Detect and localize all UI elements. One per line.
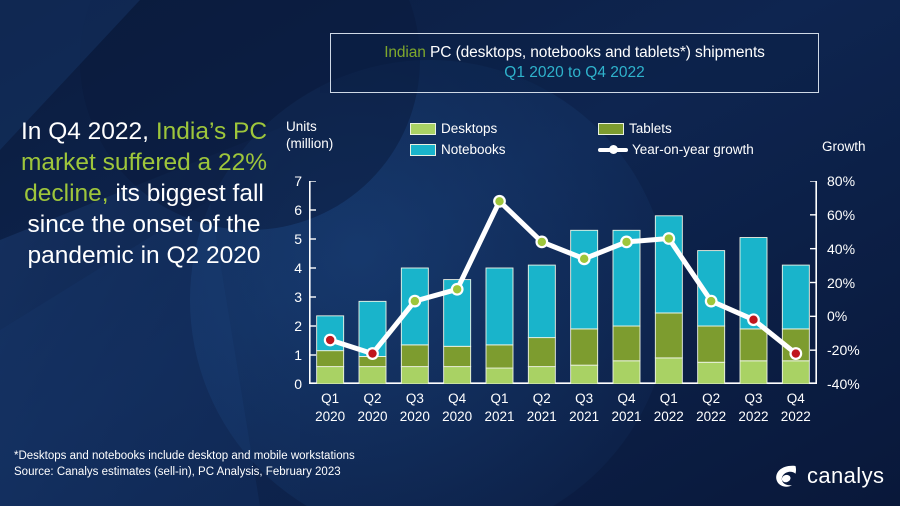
x-axis-labels: Q12020Q22020Q32020Q42020Q12021Q22021Q320… (309, 390, 817, 432)
bar-group (528, 265, 555, 384)
footnotes: *Desktops and notebooks include desktop … (14, 448, 355, 480)
x-axis-quarter: Q4 (605, 390, 647, 408)
bar-segment-notebooks (655, 216, 682, 313)
bar-segment-tablets (571, 329, 598, 365)
x-axis-year: 2021 (563, 408, 605, 426)
legend-item-desktops[interactable]: Desktops (410, 121, 598, 136)
left-axis-title-line2: (million) (286, 135, 333, 152)
legend-row-1: Desktops Tablets (410, 118, 810, 139)
bar-segment-desktops (401, 367, 428, 384)
bar-segment-desktops (444, 367, 471, 384)
left-axis-tick-label: 2 (282, 318, 302, 334)
canalys-logo: canalys (772, 461, 884, 491)
bar-segment-notebooks (571, 230, 598, 329)
x-axis-year: 2020 (436, 408, 478, 426)
x-axis-tick-label: Q42020 (436, 390, 478, 432)
canalys-logo-text: canalys (807, 463, 884, 489)
growth-marker[interactable] (749, 316, 757, 324)
right-axis-tick-label: 0% (827, 308, 871, 324)
x-axis-year: 2022 (648, 408, 690, 426)
growth-marker[interactable] (538, 238, 546, 246)
bar-segment-tablets (698, 326, 725, 362)
bar-group (613, 230, 640, 384)
growth-marker[interactable] (368, 349, 376, 357)
chart-plot-area: 01234567-40%-20%0%20%40%60%80% (309, 181, 817, 384)
bar-segment-tablets (486, 345, 513, 368)
growth-marker[interactable] (453, 285, 461, 293)
bar-group (740, 238, 767, 384)
bar-group (782, 265, 809, 384)
canalys-mark-icon (772, 461, 802, 491)
bar-segment-tablets (613, 326, 640, 361)
x-axis-year: 2022 (732, 408, 774, 426)
bar-segment-tablets (528, 338, 555, 367)
bar-group (486, 268, 513, 384)
x-axis-quarter: Q4 (775, 390, 817, 408)
left-axis-tick-label: 5 (282, 231, 302, 247)
x-axis-tick-label: Q42021 (605, 390, 647, 432)
legend-item-growth[interactable]: Year-on-year growth (598, 142, 754, 157)
x-axis-year: 2020 (309, 408, 351, 426)
legend-swatch-tablets (598, 123, 624, 135)
x-axis-quarter: Q2 (690, 390, 732, 408)
legend-label-desktops: Desktops (441, 121, 497, 136)
x-axis-tick-label: Q12021 (478, 390, 520, 432)
bar-segment-desktops (698, 362, 725, 384)
bar-segment-tablets (655, 313, 682, 358)
growth-marker[interactable] (580, 255, 588, 263)
footnote-line1: *Desktops and notebooks include desktop … (14, 448, 355, 464)
growth-marker[interactable] (411, 297, 419, 305)
bar-segment-desktops (571, 365, 598, 384)
legend-label-tablets: Tablets (629, 121, 672, 136)
right-axis-title: Growth (822, 139, 866, 154)
right-axis-tick-label: 40% (827, 241, 871, 257)
x-axis-tick-label: Q22022 (690, 390, 732, 432)
bar-segment-desktops (317, 367, 344, 384)
x-axis-year: 2020 (394, 408, 436, 426)
left-axis-tick-label: 7 (282, 173, 302, 189)
x-axis-quarter: Q4 (436, 390, 478, 408)
legend-label-notebooks: Notebooks (441, 142, 506, 157)
bar-segment-desktops (655, 358, 682, 384)
footnote-line2: Source: Canalys estimates (sell-in), PC … (14, 464, 355, 480)
right-axis-tick-label: 80% (827, 173, 871, 189)
bar-segment-notebooks (528, 265, 555, 338)
bar-segment-desktops (486, 368, 513, 384)
growth-marker[interactable] (326, 336, 334, 344)
right-axis-tick-label: -40% (827, 376, 871, 392)
chart-title-rest: PC (desktops, notebooks and tablets*) sh… (426, 44, 765, 61)
growth-marker[interactable] (707, 297, 715, 305)
left-axis-tick-label: 1 (282, 347, 302, 363)
legend-label-growth: Year-on-year growth (632, 142, 754, 157)
x-axis-year: 2021 (521, 408, 563, 426)
bar-segment-desktops (740, 361, 767, 384)
right-axis-tick-label: 20% (827, 275, 871, 291)
chart-canvas (309, 181, 817, 384)
right-axis-tick-label: 60% (827, 207, 871, 223)
x-axis-quarter: Q1 (648, 390, 690, 408)
growth-marker[interactable] (665, 234, 673, 242)
left-axis-tick-label: 6 (282, 202, 302, 218)
legend-swatch-notebooks (410, 144, 436, 156)
x-axis-tick-label: Q12022 (648, 390, 690, 432)
x-axis-year: 2022 (775, 408, 817, 426)
legend-row-2: Notebooks Year-on-year growth (410, 139, 810, 160)
x-axis-tick-label: Q22020 (351, 390, 393, 432)
x-axis-year: 2022 (690, 408, 732, 426)
right-axis-tick-label: -20% (827, 342, 871, 358)
bar-segment-notebooks (486, 268, 513, 345)
headline-pre: In Q4 2022, (21, 118, 156, 145)
x-axis-quarter: Q3 (732, 390, 774, 408)
bar-group (401, 268, 428, 384)
x-axis-tick-label: Q12020 (309, 390, 351, 432)
x-axis-quarter: Q2 (521, 390, 563, 408)
headline-text: In Q4 2022, India’s PC market suffered a… (8, 116, 280, 271)
left-axis-tick-label: 0 (282, 376, 302, 392)
left-axis-tick-label: 4 (282, 260, 302, 276)
bar-segment-tablets (444, 346, 471, 366)
chart-title-line1: Indian PC (desktops, notebooks and table… (384, 44, 765, 62)
bar-segment-desktops (782, 361, 809, 384)
bar-segment-tablets (401, 345, 428, 367)
bar-segment-notebooks (782, 265, 809, 329)
growth-marker[interactable] (495, 197, 503, 205)
legend-item-notebooks[interactable]: Notebooks (410, 142, 598, 157)
x-axis-tick-label: Q22021 (521, 390, 563, 432)
chart-legend: Desktops Tablets Notebooks Year-on-year … (410, 118, 810, 160)
bar-group (698, 251, 725, 384)
x-axis-tick-label: Q42022 (775, 390, 817, 432)
bar-segment-desktops (359, 367, 386, 384)
x-axis-quarter: Q3 (394, 390, 436, 408)
left-axis-title-line1: Units (286, 118, 333, 135)
x-axis-tick-label: Q32020 (394, 390, 436, 432)
growth-marker[interactable] (792, 349, 800, 357)
bar-segment-desktops (528, 367, 555, 384)
x-axis-quarter: Q3 (563, 390, 605, 408)
bar-segment-desktops (613, 361, 640, 384)
bar-segment-tablets (317, 351, 344, 367)
x-axis-quarter: Q1 (309, 390, 351, 408)
legend-swatch-desktops (410, 123, 436, 135)
x-axis-year: 2021 (605, 408, 647, 426)
growth-line (330, 201, 796, 353)
x-axis-tick-label: Q32021 (563, 390, 605, 432)
bar-group (317, 316, 344, 384)
chart-title-highlight: Indian (384, 44, 426, 61)
x-axis-year: 2021 (478, 408, 520, 426)
chart-title-box: Indian PC (desktops, notebooks and table… (330, 33, 819, 93)
x-axis-tick-label: Q32022 (732, 390, 774, 432)
left-axis-tick-label: 3 (282, 289, 302, 305)
growth-marker[interactable] (622, 238, 630, 246)
x-axis-quarter: Q2 (351, 390, 393, 408)
legend-item-tablets[interactable]: Tablets (598, 121, 672, 136)
x-axis-year: 2020 (351, 408, 393, 426)
x-axis-quarter: Q1 (478, 390, 520, 408)
left-axis-title: Units (million) (286, 118, 333, 152)
legend-swatch-growth-line (598, 144, 628, 156)
chart-subtitle: Q1 2020 to Q4 2022 (504, 64, 644, 82)
bar-segment-tablets (740, 329, 767, 361)
